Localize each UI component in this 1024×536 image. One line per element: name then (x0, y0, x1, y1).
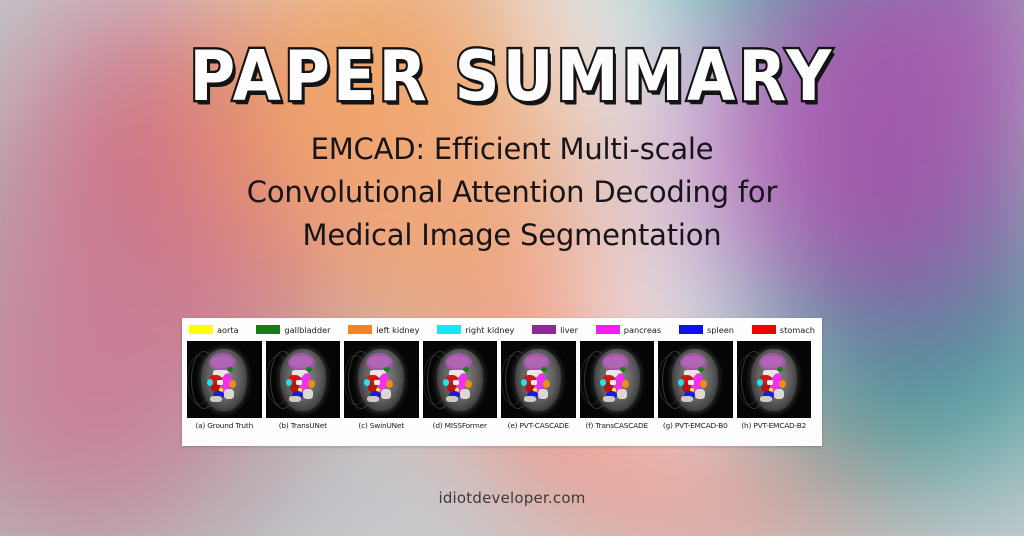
caption-panel-g: (g) PVT-EMCAD-B0 (658, 421, 733, 430)
legend-swatch-right-kidney (437, 325, 461, 334)
legend-swatch-liver (532, 325, 556, 334)
segmentation-caption-row: (a) Ground Truth (b) TransUNet (c) SwinU… (187, 421, 817, 430)
legend-item-liver: liver (532, 325, 578, 335)
legend-item-left-kidney: left kidney (348, 325, 419, 335)
ct-scan-image-b (276, 347, 330, 413)
segmentation-panel-h (737, 341, 812, 418)
legend-item-pancreas: pancreas (596, 325, 661, 335)
caption-panel-b: (b) TransUNet (266, 421, 341, 430)
caption-panel-a: (a) Ground Truth (187, 421, 262, 430)
legend-swatch-left-kidney (348, 325, 372, 334)
legend-label-spleen: spleen (707, 325, 734, 335)
legend-label-left-kidney: left kidney (376, 325, 419, 335)
caption-panel-e: (e) PVT-CASCADE (501, 421, 576, 430)
ct-scan-image-a (197, 347, 251, 413)
legend-label-stomach: stomach (780, 325, 815, 335)
segmentation-figure-card: aorta gallbladder left kidney right kidn… (182, 318, 822, 446)
legend-swatch-stomach (752, 325, 776, 334)
legend-label-gallbladder: gallbladder (284, 325, 330, 335)
segmentation-panel-a (187, 341, 262, 418)
ct-scan-image-h (747, 347, 801, 413)
segmentation-panel-e (501, 341, 576, 418)
legend-swatch-gallbladder (256, 325, 280, 334)
page-title: PAPER SUMMARY (0, 36, 1024, 117)
segmentation-legend: aorta gallbladder left kidney right kidn… (187, 322, 817, 337)
segmentation-panel-b (266, 341, 341, 418)
ct-scan-image-g (668, 347, 722, 413)
legend-item-spleen: spleen (679, 325, 734, 335)
legend-item-stomach: stomach (752, 325, 815, 335)
legend-label-pancreas: pancreas (624, 325, 661, 335)
legend-swatch-spleen (679, 325, 703, 334)
legend-label-aorta: aorta (217, 325, 239, 335)
legend-item-aorta: aorta (189, 325, 239, 335)
ct-scan-image-e (511, 347, 565, 413)
caption-panel-c: (c) SwinUNet (344, 421, 419, 430)
ct-scan-image-c (354, 347, 408, 413)
segmentation-panel-c (344, 341, 419, 418)
footer-website: idiotdeveloper.com (0, 489, 1024, 507)
segmentation-panel-f (580, 341, 655, 418)
segmentation-panel-row (187, 341, 817, 418)
ct-scan-image-d (433, 347, 487, 413)
segmentation-panel-g (658, 341, 733, 418)
legend-swatch-aorta (189, 325, 213, 334)
paper-title-subtitle: EMCAD: Efficient Multi-scale Convolution… (232, 128, 792, 257)
legend-swatch-pancreas (596, 325, 620, 334)
legend-label-right-kidney: right kidney (465, 325, 514, 335)
ct-scan-image-f (590, 347, 644, 413)
segmentation-panel-d (423, 341, 498, 418)
legend-item-gallbladder: gallbladder (256, 325, 330, 335)
legend-label-liver: liver (560, 325, 578, 335)
legend-item-right-kidney: right kidney (437, 325, 514, 335)
caption-panel-h: (h) PVT-EMCAD-B2 (737, 421, 812, 430)
caption-panel-d: (d) MISSFormer (423, 421, 498, 430)
caption-panel-f: (f) TransCASCADE (580, 421, 655, 430)
